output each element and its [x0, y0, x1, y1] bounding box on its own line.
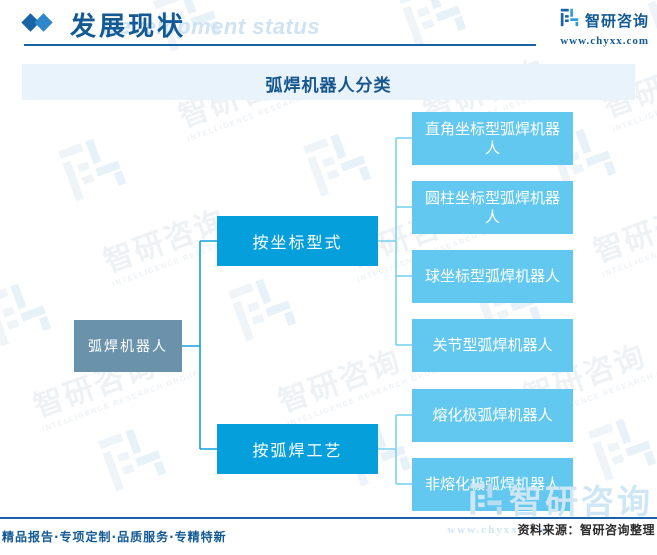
brand-url: www.chyxx.com — [560, 35, 649, 47]
diagram-node-n5[interactable]: 熔化极弧焊机器人 — [412, 389, 573, 442]
page-header: Development status 发展现状 智研咨询 www.chyxx.c… — [0, 0, 657, 52]
diagram-node-label: 按弧焊工艺 — [252, 437, 342, 461]
diagram-node-l2a[interactable]: 按坐标型式 — [217, 216, 378, 266]
diagram-node-n1[interactable]: 直角坐标型弧焊机器人 — [412, 112, 573, 165]
diagram-node-label: 熔化极弧焊机器人 — [432, 406, 552, 425]
diagram-node-label: 弧焊机器人 — [88, 336, 168, 356]
diagram-node-label: 圆柱坐标型弧焊机器人 — [418, 189, 567, 227]
diagram-node-n3[interactable]: 球坐标型弧焊机器人 — [412, 250, 573, 303]
brand-block: 智研咨询 www.chyxx.com — [560, 8, 649, 47]
diagram-node-n4[interactable]: 关节型弧焊机器人 — [412, 319, 573, 372]
diagram-node-label: 球坐标型弧焊机器人 — [425, 267, 560, 286]
diagram-node-n6[interactable]: 非熔化极弧焊机器人 — [412, 458, 573, 511]
footer-slogan: 精品报告·专项定制·品质服务·专精特新 — [2, 528, 227, 545]
chart-title: 弧焊机器人分类 — [22, 71, 635, 96]
diagram-node-l2b[interactable]: 按弧焊工艺 — [217, 424, 378, 474]
page-title: 发展现状 — [70, 6, 186, 43]
diagram-node-n2[interactable]: 圆柱坐标型弧焊机器人 — [412, 181, 573, 234]
diagram-node-label: 关节型弧焊机器人 — [432, 336, 552, 355]
diagram-node-root[interactable]: 弧焊机器人 — [74, 320, 182, 372]
diamond-bullet-icon — [24, 14, 64, 32]
header-divider — [24, 44, 536, 46]
brand-name: 智研咨询 — [585, 10, 649, 31]
diagram-node-label: 按坐标型式 — [252, 229, 342, 253]
zhiyan-logo-icon — [560, 8, 579, 32]
diagram-node-label: 非熔化极弧焊机器人 — [425, 475, 560, 494]
footer-divider — [0, 517, 657, 519]
diagram-node-label: 直角坐标型弧焊机器人 — [418, 120, 567, 158]
footer-source-note: 资料来源：智研咨询整理 — [517, 521, 655, 538]
chart-title-band: 弧焊机器人分类 — [22, 64, 635, 100]
